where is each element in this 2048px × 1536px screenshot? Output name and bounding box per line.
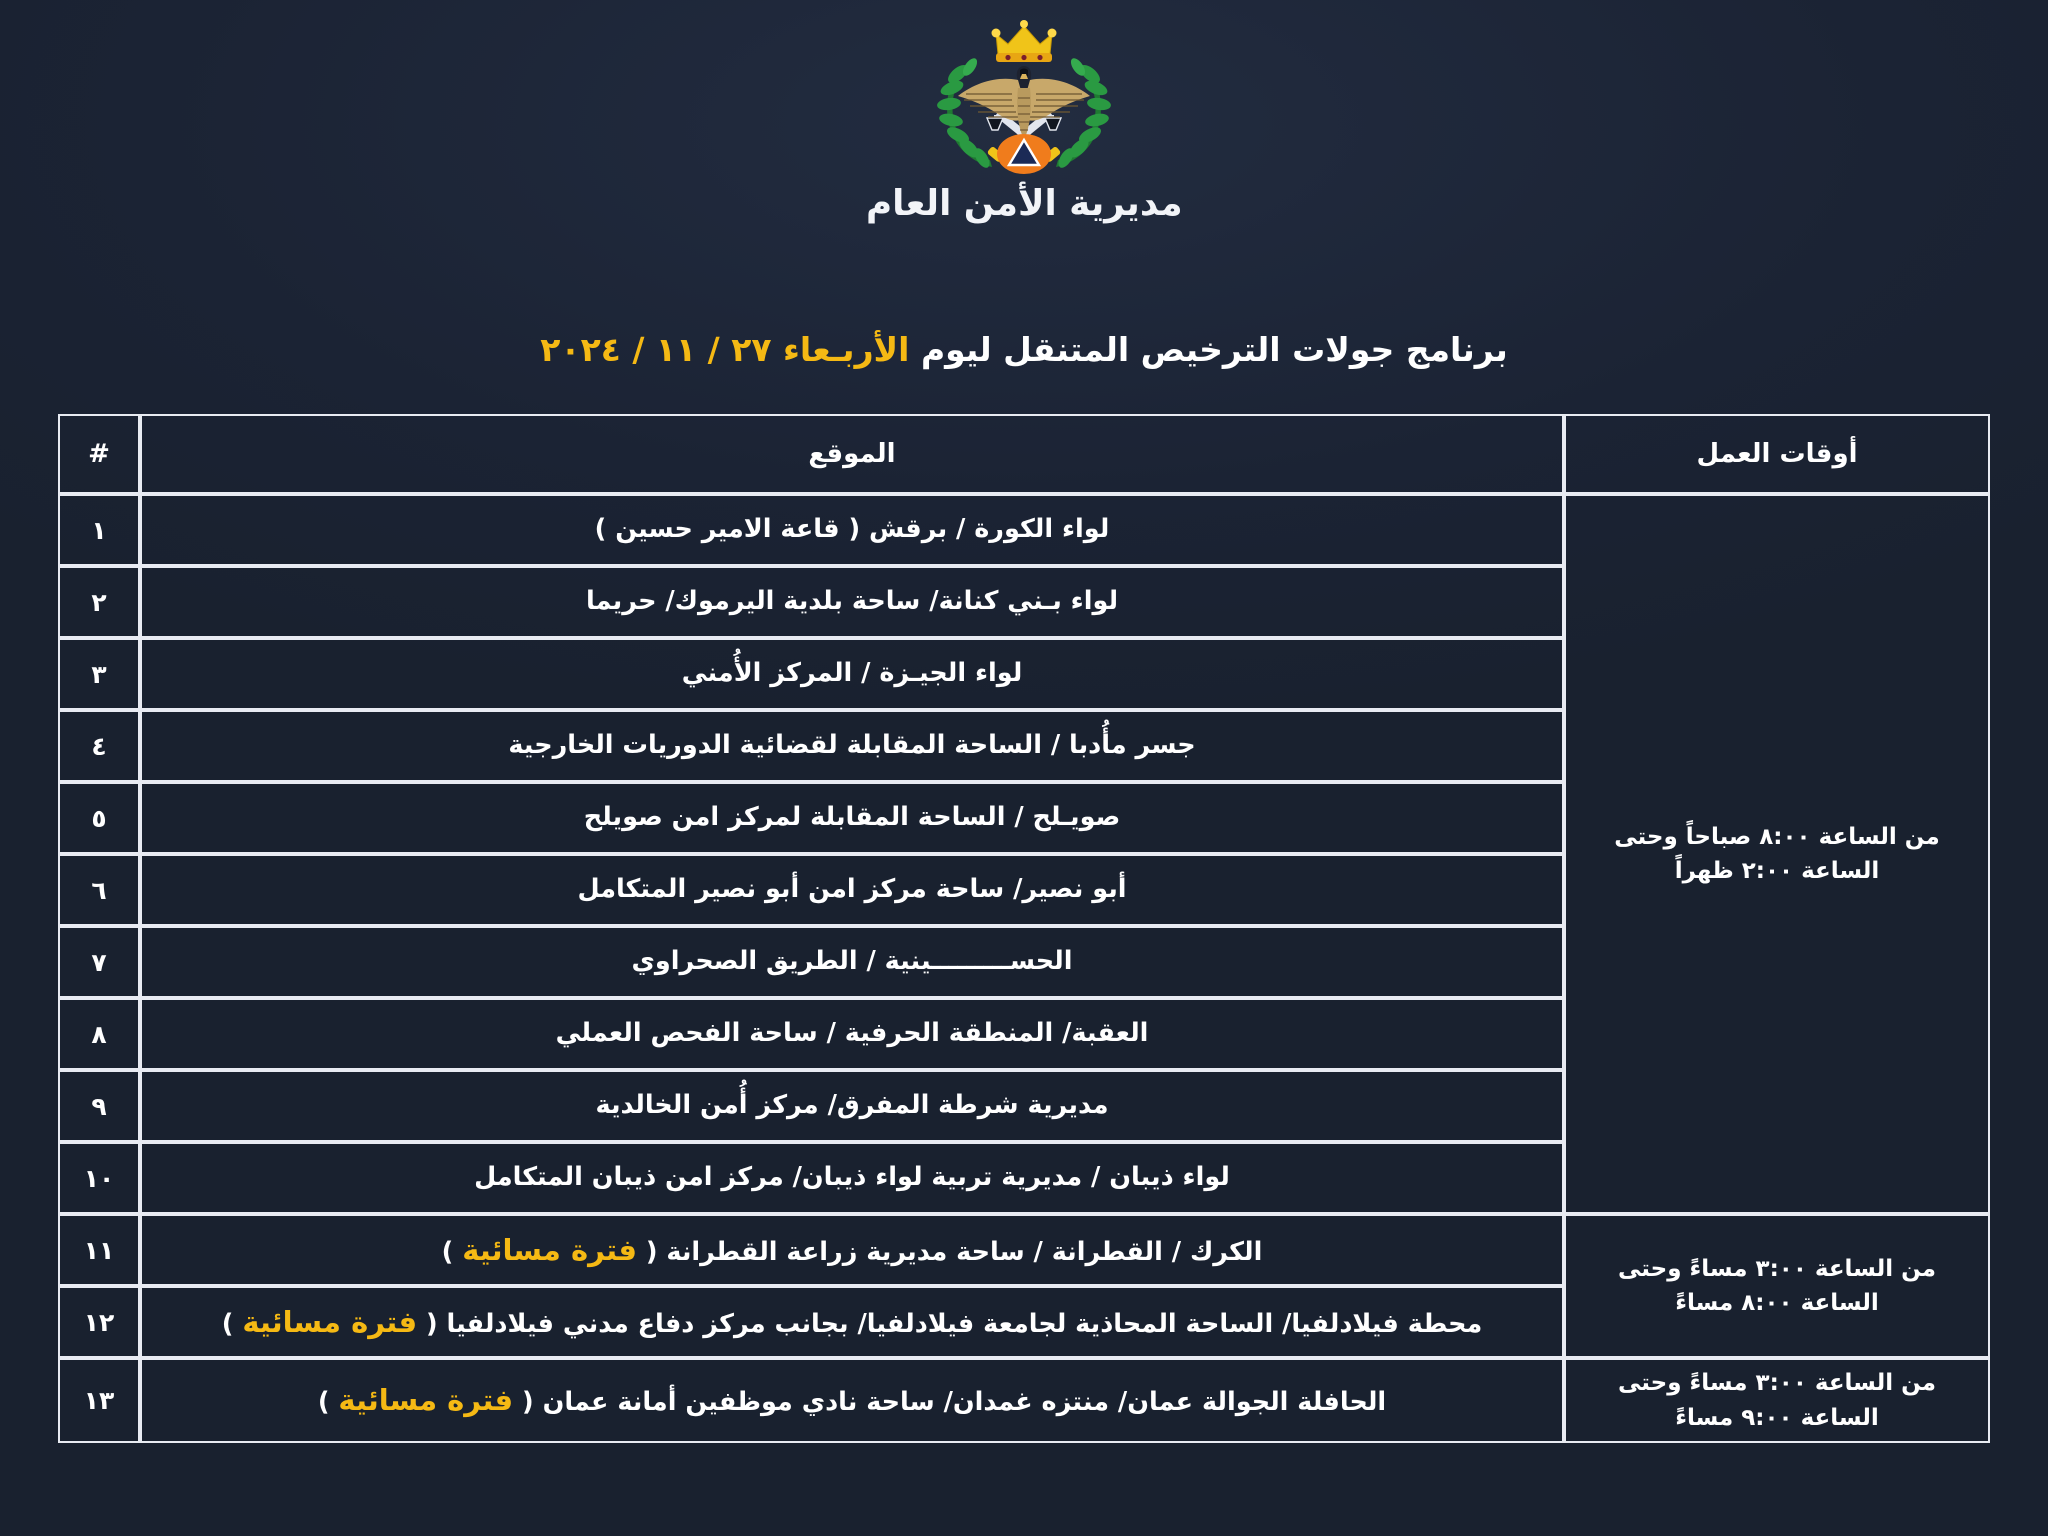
table-body: من الساعة ٨:٠٠ صباحاً وحتى الساعة ٢:٠٠ ظ…	[58, 494, 1990, 1443]
page-root: مديرية الأمن العام برنامج جولات الترخيص …	[0, 0, 2048, 1536]
falcon-icon	[958, 66, 1090, 140]
location-text: محطة فيلادلفيا/ الساحة المحاذية لجامعة ف…	[438, 1309, 1483, 1339]
header-emblem-block: مديرية الأمن العام	[0, 14, 2048, 232]
paren-close: )	[442, 1237, 463, 1267]
table-row: من الساعة ٨:٠٠ صباحاً وحتى الساعة ٢:٠٠ ظ…	[58, 494, 1990, 566]
column-header-location: الموقع	[140, 414, 1564, 494]
location-text: الحافلة الجوالة عمان/ منتزه غمدان/ ساحة …	[534, 1387, 1386, 1417]
location-cell: لواء بـني كنانة/ ساحة بلدية اليرموك/ حري…	[140, 566, 1564, 638]
location-cell: العقبة/ المنطقة الحرفية / ساحة الفحص الع…	[140, 998, 1564, 1070]
location-cell: لواء الجيـزة / المركز الأُمني	[140, 638, 1564, 710]
column-header-number: #	[58, 414, 140, 494]
location-cell: الحســـــــــينية / الطريق الصحراوي	[140, 926, 1564, 998]
org-calligraphy-text: مديرية الأمن العام	[866, 180, 1183, 224]
row-number-cell: ٣	[58, 638, 140, 710]
row-number-cell: ١٣	[58, 1358, 140, 1443]
table-row: من الساعة ٣:٠٠ مساءً وحتى الساعة ٨:٠٠ مس…	[58, 1214, 1990, 1286]
row-number-cell: ١٠	[58, 1142, 140, 1214]
org-calligraphy-icon: مديرية الأمن العام	[827, 170, 1222, 232]
table-row: من الساعة ٣:٠٠ مساءً وحتى الساعة ٩:٠٠ مس…	[58, 1358, 1990, 1443]
row-number-cell: ٧	[58, 926, 140, 998]
row-number-cell: ٥	[58, 782, 140, 854]
working-hours-cell: من الساعة ٨:٠٠ صباحاً وحتى الساعة ٢:٠٠ ظ…	[1564, 494, 1990, 1214]
row-number-cell: ٦	[58, 854, 140, 926]
location-cell: لواء الكورة / برقش ( قاعة الامير حسين )	[140, 494, 1564, 566]
location-cell: أبو نصير/ ساحة مركز امن أبو نصير المتكام…	[140, 854, 1564, 926]
paren-close: )	[318, 1387, 339, 1417]
page-title-main: برنامج جولات الترخيص المتنقل ليوم	[921, 330, 1508, 369]
jordan-public-security-emblem-icon	[932, 14, 1116, 174]
crown-icon	[992, 20, 1057, 62]
column-header-time: أوقات العمل	[1564, 414, 1990, 494]
paren-open: (	[637, 1237, 658, 1267]
location-cell: لواء ذيبان / مديرية تربية لواء ذيبان/ مر…	[140, 1142, 1564, 1214]
row-number-cell: ٩	[58, 1070, 140, 1142]
table-header-row: أوقات العمل الموقع #	[58, 414, 1990, 494]
table-header: أوقات العمل الموقع #	[58, 414, 1990, 494]
row-number-cell: ١	[58, 494, 140, 566]
row-number-cell: ٨	[58, 998, 140, 1070]
location-text: الكرك / القطرانة / ساحة مديرية زراعة الق…	[658, 1237, 1263, 1267]
page-title-date: الأربـعاء ٢٧ / ١١ / ٢٠٢٤	[540, 330, 909, 369]
schedule-table: أوقات العمل الموقع # من الساعة ٨:٠٠ صباح…	[58, 414, 1990, 1443]
working-hours-cell: من الساعة ٣:٠٠ مساءً وحتى الساعة ٩:٠٠ مس…	[1564, 1358, 1990, 1443]
row-number-cell: ١١	[58, 1214, 140, 1286]
location-cell: جسر مأُدبا / الساحة المقابلة لقضائية الد…	[140, 710, 1564, 782]
row-number-cell: ١٢	[58, 1286, 140, 1358]
working-hours-cell: من الساعة ٣:٠٠ مساءً وحتى الساعة ٨:٠٠ مس…	[1564, 1214, 1990, 1358]
paren-open: (	[513, 1387, 534, 1417]
row-number-cell: ٢	[58, 566, 140, 638]
location-cell: مديرية شرطة المفرق/ مركز أُمن الخالدية	[140, 1070, 1564, 1142]
triangle-badge-icon	[997, 134, 1051, 174]
evening-period-badge: فترة مسائية	[242, 1305, 417, 1339]
location-cell: الكرك / القطرانة / ساحة مديرية زراعة الق…	[140, 1214, 1564, 1286]
location-cell: صويـلح / الساحة المقابلة لمركز امن صويلح	[140, 782, 1564, 854]
location-cell: الحافلة الجوالة عمان/ منتزه غمدان/ ساحة …	[140, 1358, 1564, 1443]
evening-period-badge: فترة مسائية	[338, 1383, 513, 1417]
row-number-cell: ٤	[58, 710, 140, 782]
paren-open: (	[417, 1309, 438, 1339]
page-title: برنامج جولات الترخيص المتنقل ليوم الأربـ…	[0, 330, 2048, 370]
location-cell: محطة فيلادلفيا/ الساحة المحاذية لجامعة ف…	[140, 1286, 1564, 1358]
evening-period-badge: فترة مسائية	[462, 1233, 637, 1267]
paren-close: )	[222, 1309, 243, 1339]
